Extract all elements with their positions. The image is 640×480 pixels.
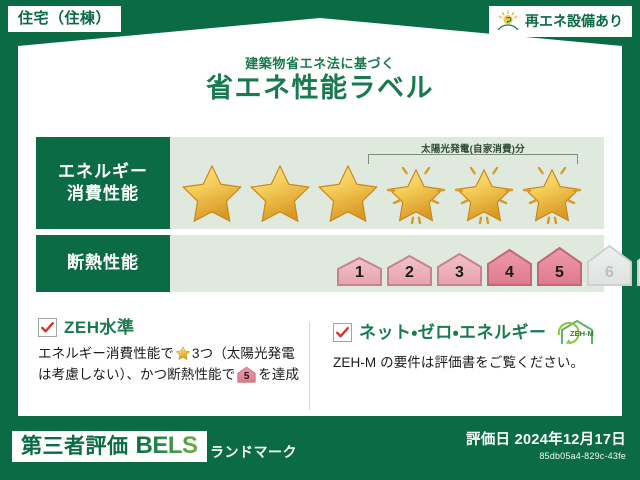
row-energy-body: 太陽光発電(自家消費)分 — [170, 137, 604, 229]
row-insulation-body: 1 2 3 — [170, 235, 604, 292]
insulation-level-5: 5 — [536, 246, 583, 286]
builder-name: ランドマーク — [210, 442, 297, 462]
bels-en-label: BELS — [136, 434, 198, 458]
net-zero-energy-description: ZEH-M の要件は評価書をご覧ください。 — [333, 353, 602, 374]
insulation-level-4: 4 — [486, 248, 533, 286]
zeh-check-icon — [38, 318, 57, 337]
zeh-standard-title: ZEH水準 — [64, 319, 135, 336]
insulation-level-5-number: 5 — [536, 265, 583, 281]
energy-star-rating — [178, 159, 586, 225]
zeh-text-d: を達成 — [258, 367, 299, 382]
inline-insulation-badge-number: 5 — [237, 372, 256, 382]
inline-insulation-badge: 5 — [237, 366, 256, 383]
insulation-level-4-number: 4 — [486, 265, 533, 281]
insulation-level-1-number: 1 — [336, 265, 383, 281]
insulation-level-2: 2 — [386, 254, 433, 286]
row-insulation-performance: 断熱性能 — [36, 235, 604, 292]
zeh-standard-header: ZEH水準 — [38, 318, 307, 337]
renewable-equipment-badge: 再エネ設備あり — [489, 6, 632, 37]
insulation-level-3-number: 3 — [436, 265, 483, 281]
insulation-level-scale: 1 2 3 — [336, 242, 640, 286]
row-energy-label-line1: エネルギー — [58, 161, 148, 183]
evaluation-hash: 85db05a4-829c-43fe — [466, 451, 626, 461]
house-type-badge: 住宅（住棟） — [8, 6, 121, 32]
net-zero-energy-header: ネット・ゼロ・エネルギー ZEH-M — [333, 318, 602, 346]
label-footer: 第三者評価 BELS ランドマーク 評価日 2024年12月17日 85db05… — [0, 420, 640, 480]
net-zero-energy-panel: ネット・ゼロ・エネルギー ZEH-M ZEH-M の要件は評価書をご覧ください。 — [315, 318, 610, 386]
zeh-standard-panel: ZEH水準 エネルギー消費性能で3つ（太陽光発電 は考慮しない）、かつ断熱性能で… — [30, 318, 315, 386]
insulation-level-6: 6 — [586, 244, 633, 286]
house-type-badge-label: 住宅（住棟） — [18, 10, 111, 27]
row-energy-label-line2: 消費性能 — [67, 183, 139, 205]
row-insulation-label-text: 断熱性能 — [67, 252, 139, 274]
star-filled-1 — [178, 159, 246, 225]
bels-logo: 第三者評価 BELS — [12, 431, 207, 462]
star-filled-3 — [314, 159, 382, 225]
insulation-level-7-number: 7 — [636, 265, 640, 281]
rating-rows: エネルギー 消費性能 太陽光発電(自家消費)分 — [36, 137, 604, 298]
energy-performance-label: 住宅（住棟） 再エネ設備あり 建築物省エネ法に基づく 省エネ性能ラベル — [0, 0, 640, 480]
insulation-level-2-number: 2 — [386, 265, 433, 281]
zeh-text-a: エネルギー消費性能で — [38, 346, 174, 361]
zeh-standard-description: エネルギー消費性能で3つ（太陽光発電 は考慮しない）、かつ断熱性能で5を達成 — [38, 344, 307, 386]
zeh-text-c: は考慮しない）、かつ断熱性能で — [38, 367, 235, 382]
bels-jp-label: 第三者評価 — [21, 436, 129, 457]
label-subtitle: 建築物省エネ法に基づく — [0, 57, 640, 71]
solar-self-consumption-caption: 太陽光発電(自家消費)分 — [368, 141, 578, 155]
evaluation-date: 評価日 2024年12月17日 — [466, 432, 626, 449]
renewable-badge-label: 再エネ設備あり — [525, 14, 623, 28]
evaluation-info: 評価日 2024年12月17日 85db05a4-829c-43fe — [466, 432, 626, 461]
label-title-block: 建築物省エネ法に基づく 省エネ性能ラベル — [0, 57, 640, 104]
star-solar-1 — [382, 159, 450, 225]
row-energy-performance: エネルギー 消費性能 太陽光発電(自家消費)分 — [36, 137, 604, 229]
row-insulation-label: 断熱性能 — [36, 235, 170, 292]
star-filled-2 — [246, 159, 314, 225]
info-panels: ZEH水準 エネルギー消費性能で3つ（太陽光発電 は考慮しない）、かつ断熱性能で… — [30, 318, 610, 386]
sun-renewable-icon — [496, 10, 520, 32]
nzeb-check-icon — [333, 323, 352, 342]
insulation-level-1: 1 — [336, 256, 383, 286]
row-energy-label: エネルギー 消費性能 — [36, 137, 170, 229]
label-title: 省エネ性能ラベル — [0, 74, 640, 104]
info-divider — [309, 322, 310, 410]
insulation-level-3: 3 — [436, 252, 483, 286]
zeh-m-logo-icon: ZEH-M — [556, 318, 600, 346]
insulation-level-6-number: 6 — [586, 265, 633, 281]
net-zero-energy-title: ネット・ゼロ・エネルギー — [359, 324, 547, 341]
zeh-text-b: 3つ（太陽光発電 — [192, 346, 295, 361]
inline-star-icon — [175, 345, 191, 361]
star-solar-3 — [518, 159, 586, 225]
star-solar-2 — [450, 159, 518, 225]
svg-text:ZEH-M: ZEH-M — [570, 329, 594, 338]
insulation-level-7: 7 — [636, 242, 640, 286]
